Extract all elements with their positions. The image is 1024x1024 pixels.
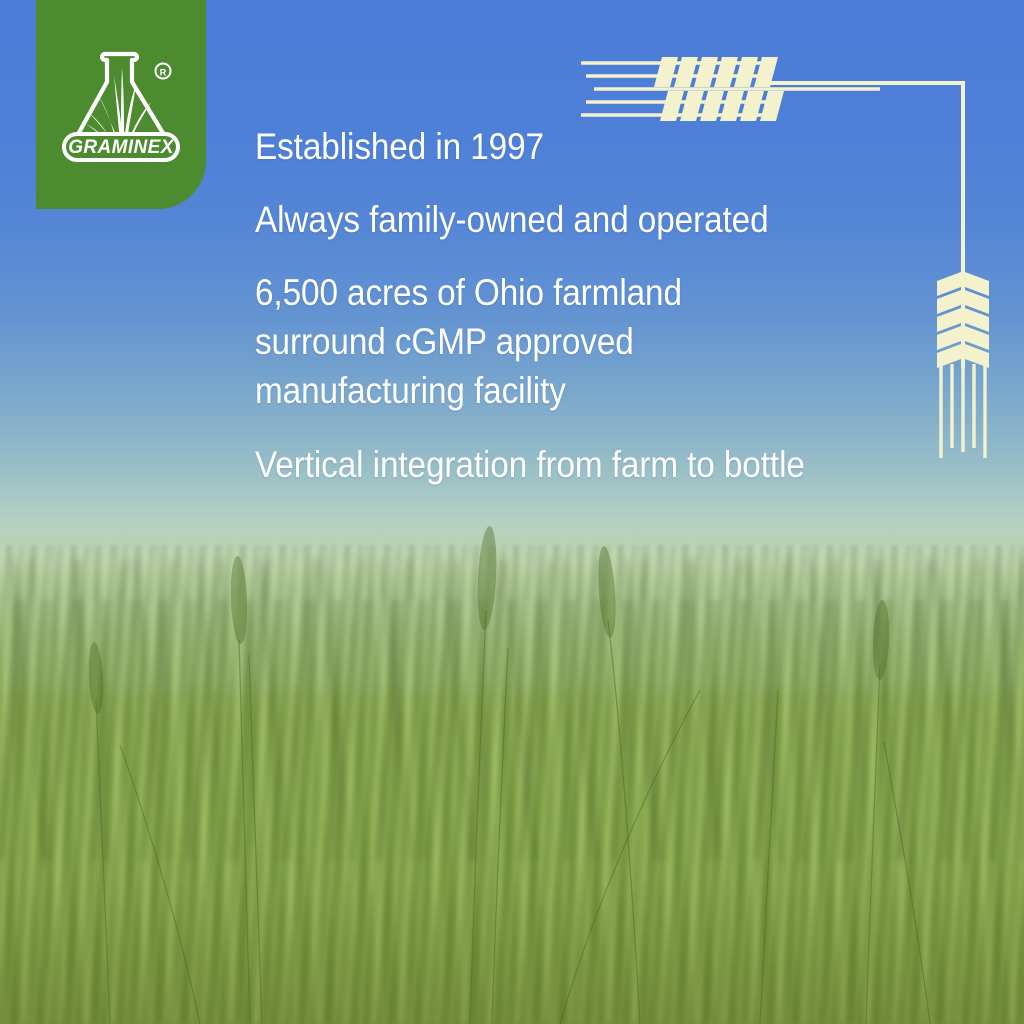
key-facts-list: Established in 1997 Always family-owned … xyxy=(255,124,935,488)
fact-integration: Vertical integration from farm to bottle xyxy=(255,442,867,489)
fact-family-owned: Always family-owned and operated xyxy=(255,197,867,244)
brand-graphic-canvas: R GRAMINEX Established in 1997 Always fa… xyxy=(0,0,1024,1024)
svg-text:R: R xyxy=(160,68,167,78)
flask-with-grass-icon: R GRAMINEX xyxy=(58,46,184,164)
fact-acreage: 6,500 acres of Ohio farmland surround cG… xyxy=(255,269,867,415)
brand-wordmark-text: GRAMINEX xyxy=(68,137,175,158)
brand-logo-badge[interactable]: R GRAMINEX xyxy=(36,0,206,209)
registered-trademark-icon: R xyxy=(156,64,171,79)
brand-wordmark: GRAMINEX xyxy=(64,134,178,160)
fact-established: Established in 1997 xyxy=(255,124,867,171)
field-bottom-shading xyxy=(0,880,1024,1024)
field-seed-head-texture xyxy=(0,560,1024,860)
